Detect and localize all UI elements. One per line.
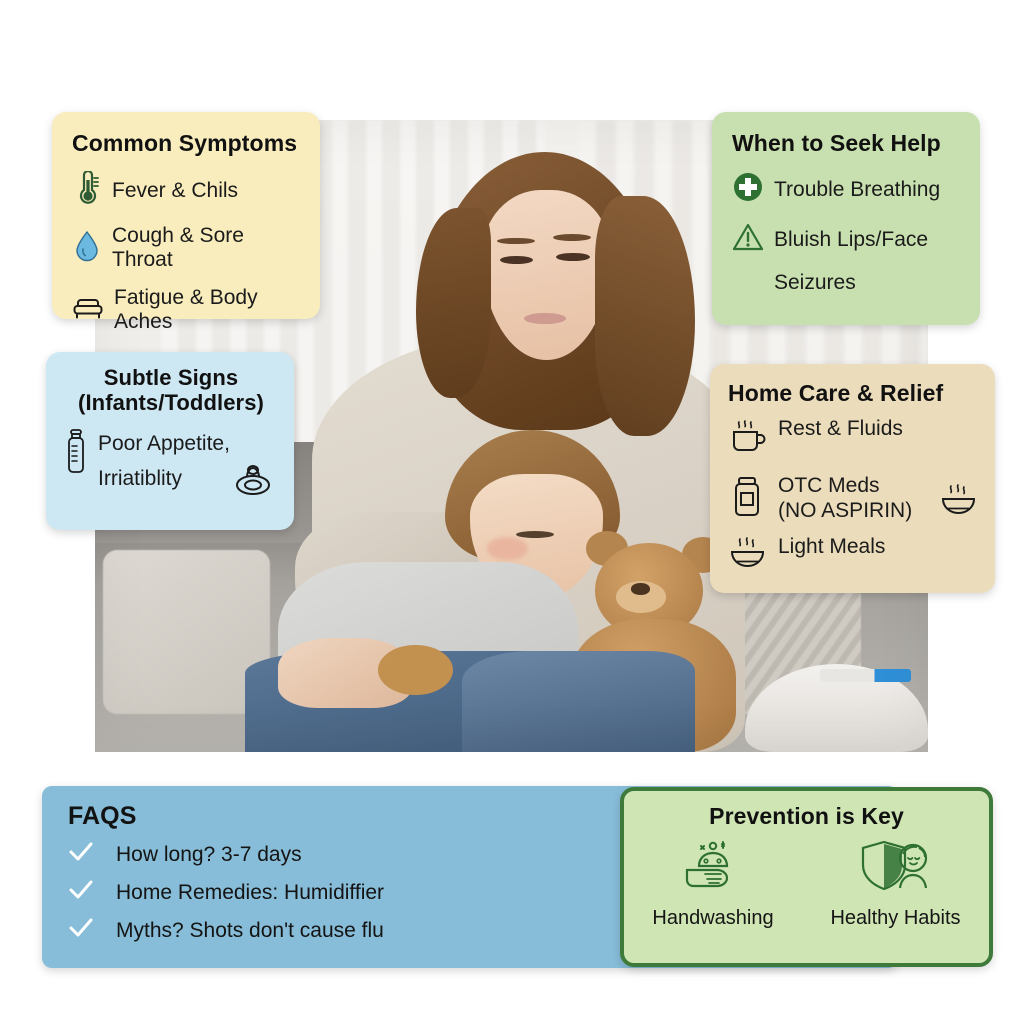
soup-bowl-icon [728, 535, 768, 582]
check-icon [68, 841, 94, 868]
warning-triangle-icon [732, 222, 764, 257]
prevention-label-handwashing: Handwashing [652, 907, 773, 930]
baby-bottle-icon [62, 427, 90, 482]
card-subtle-signs: Subtle Signs (Infants/Toddlers) Poor App… [46, 352, 294, 530]
subtle-text-line2: Irriatiblity [98, 467, 182, 490]
home-label-otc-meds: OTC Meds (NO ASPIRIN) [778, 474, 912, 524]
couch-icon [72, 295, 104, 326]
pacifier-icon [230, 459, 276, 504]
subtle-signs-text: Poor Appetite, Irriatiblity [98, 427, 230, 496]
card-title-subtle-signs: Subtle Signs (Infants/Toddlers) [62, 366, 280, 415]
check-icon [68, 917, 94, 944]
seek-label-bluish-lips: Bluish Lips/Face [774, 228, 928, 252]
symptom-row-cough: Cough & Sore Throat [72, 224, 304, 272]
seek-label-seizures: Seizures [774, 271, 856, 295]
faq-label-duration: How long? 3-7 days [116, 843, 302, 867]
card-title-home-care: Home Care & Relief [728, 380, 983, 407]
medical-cross-icon [732, 171, 764, 208]
subtle-title-line2: (Infants/Toddlers) [78, 390, 264, 415]
home-label-rest: Rest & Fluids [778, 417, 903, 442]
card-home-care-relief: Home Care & Relief Rest & Fluids [710, 364, 995, 593]
check-icon [68, 879, 94, 906]
seek-row-breathing: Trouble Breathing [732, 171, 966, 208]
card-prevention-is-key: Prevention is Key Handwashing [620, 787, 993, 967]
card-title-seek-help: When to Seek Help [732, 130, 966, 157]
symptom-row-fatigue: Fatigue & Body Aches [72, 286, 304, 334]
faq-label-myths: Myths? Shots don't cause flu [116, 919, 384, 943]
symptom-label-fever: Fever & Chils [112, 179, 238, 203]
home-otc-line2: (NO ASPIRIN) [778, 499, 912, 522]
handwashing-icon [675, 836, 751, 903]
symptom-label-cough: Cough & Sore Throat [112, 224, 304, 272]
card-when-to-seek-help: When to Seek Help Trouble Breathing Blui… [712, 112, 980, 325]
seek-label-breathing: Trouble Breathing [774, 178, 940, 202]
water-drop-icon [72, 229, 102, 268]
seek-row-bluish-lips: Bluish Lips/Face [732, 222, 966, 257]
home-row-light-meals: Light Meals [728, 535, 983, 582]
card-title-prevention: Prevention is Key [624, 803, 989, 830]
prevention-item-healthy-habits: Healthy Habits [830, 836, 960, 930]
infographic-poster: Common Symptoms Fever & Chils Cough & So… [0, 0, 1024, 1024]
shield-child-icon [853, 836, 939, 903]
subtle-text-line1: Poor Appetite, [98, 432, 230, 455]
symptom-label-fatigue: Fatigue & Body Aches [114, 286, 304, 334]
pill-bottle-icon [728, 474, 768, 525]
home-label-light-meals: Light Meals [778, 535, 885, 560]
seek-row-seizures: Seizures [732, 271, 966, 295]
subtle-title-line1: Subtle Signs [104, 365, 238, 390]
faq-label-remedies: Home Remedies: Humidiffier [116, 881, 384, 905]
home-otc-line1: OTC Meds [778, 474, 880, 497]
thermometer-icon [72, 171, 102, 210]
card-title-common-symptoms: Common Symptoms [72, 130, 304, 157]
card-common-symptoms: Common Symptoms Fever & Chils Cough & So… [52, 112, 320, 319]
soup-bowl-icon [939, 482, 979, 529]
prevention-item-handwashing: Handwashing [652, 836, 773, 930]
prevention-label-healthy-habits: Healthy Habits [830, 907, 960, 930]
symptom-row-fever: Fever & Chils [72, 171, 304, 210]
home-row-rest: Rest & Fluids [728, 417, 983, 464]
mug-icon [728, 417, 768, 464]
